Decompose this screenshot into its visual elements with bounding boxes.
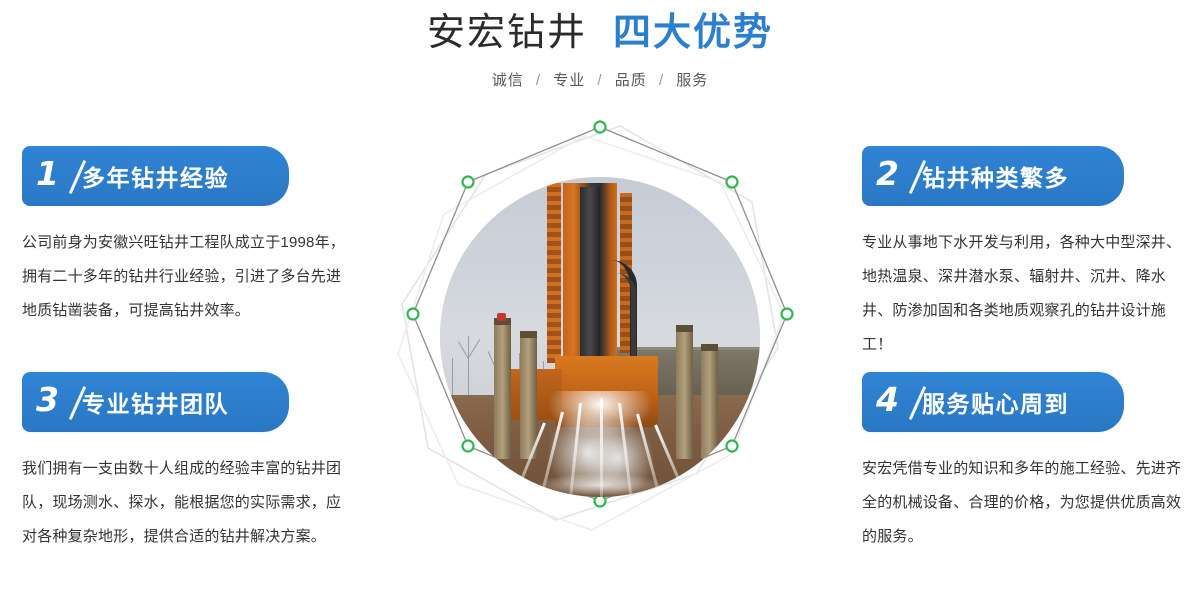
- vertex-dot-top: [595, 122, 606, 133]
- number-badge-3-icon: 3: [36, 381, 78, 423]
- subtitle-item-1: 专业: [553, 72, 585, 89]
- advantage-title-1: 多年钻井经验: [82, 159, 229, 193]
- rig-support-leg-4: [701, 350, 718, 459]
- subtitle-separator-0: /: [536, 72, 541, 89]
- number-digit-3: 3: [36, 379, 58, 421]
- vertex-dot-left: [408, 309, 419, 320]
- page-subtitle: 诚信 / 专业 / 品质 / 服务: [0, 69, 1200, 90]
- number-digit-2: 2: [876, 153, 898, 195]
- vertex-dot-bottom: [595, 496, 606, 507]
- rig-support-leg-1: [494, 324, 511, 458]
- page-title: 安宏钻井四大优势: [0, 14, 1200, 52]
- page-title-accent: 四大优势: [613, 12, 773, 54]
- rig-mast-core: [580, 187, 600, 373]
- number-badge-1-icon: 1: [36, 155, 78, 197]
- rig-ladder-left: [547, 183, 561, 362]
- rig-support-leg-3: [676, 331, 693, 459]
- advantage-body-4: 安宏凭借专业的知识和多年的施工经验、先进齐全的机械设备、合理的价格，为您提供优质…: [862, 452, 1184, 554]
- page-title-main: 安宏钻井: [427, 12, 587, 54]
- subtitle-item-3: 服务: [676, 72, 708, 89]
- number-digit-4: 4: [876, 379, 898, 421]
- advantage-banner-1[interactable]: 1 多年钻井经验: [22, 146, 289, 206]
- subtitle-separator-1: /: [597, 72, 602, 89]
- center-graphic: [380, 118, 820, 566]
- vertex-dot-right: [782, 309, 793, 320]
- advantage-card-1: 1 多年钻井经验 公司前身为安徽兴旺钻井工程队成立于1998年，拥有二十多年的钻…: [22, 146, 352, 328]
- number-digit-1: 1: [36, 153, 58, 195]
- advantage-body-2: 专业从事地下水开发与利用，各种大中型深井、地热温泉、深井潜水泵、辐射井、沉井、降…: [862, 226, 1184, 362]
- number-badge-2-icon: 2: [876, 155, 918, 197]
- advantage-card-3: 3 专业钻井团队 我们拥有一支由数十人组成的经验丰富的钻井团队，现场测水、探水，…: [22, 372, 352, 554]
- advantage-card-2: 2 钻井种类繁多 专业从事地下水开发与利用，各种大中型深井、地热温泉、深井潜水泵…: [862, 146, 1192, 362]
- page-root: 安宏钻井四大优势 诚信 / 专业 / 品质 / 服务 1 多年钻井经验 公司前身…: [0, 0, 1200, 600]
- advantage-card-4: 4 服务贴心周到 安宏凭借专业的知识和多年的施工经验、先进齐全的机械设备、合理的…: [862, 372, 1192, 554]
- advantage-banner-3[interactable]: 3 专业钻井团队: [22, 372, 289, 432]
- advantage-body-3: 我们拥有一支由数十人组成的经验丰富的钻井团队，现场测水、探水，能根据您的实际需求…: [22, 452, 352, 554]
- number-badge-4-icon: 4: [876, 381, 918, 423]
- advantage-banner-2[interactable]: 2 钻井种类繁多: [862, 146, 1124, 206]
- photo-scene: [440, 177, 760, 497]
- advantage-title-4: 服务贴心周到: [922, 385, 1069, 419]
- subtitle-item-2: 品质: [615, 72, 647, 89]
- water-splash: [515, 467, 685, 497]
- advantage-body-1: 公司前身为安徽兴旺钻井工程队成立于1998年，拥有二十多年的钻井行业经验，引进了…: [22, 226, 352, 328]
- advantage-title-2: 钻井种类繁多: [922, 159, 1069, 193]
- subtitle-separator-2: /: [659, 72, 664, 89]
- subtitle-item-0: 诚信: [492, 72, 524, 89]
- advantage-banner-4[interactable]: 4 服务贴心周到: [862, 372, 1124, 432]
- advantage-title-3: 专业钻井团队: [82, 385, 229, 419]
- drilling-rig-photo: [440, 177, 760, 497]
- page-header: 安宏钻井四大优势 诚信 / 专业 / 品质 / 服务: [0, 14, 1200, 90]
